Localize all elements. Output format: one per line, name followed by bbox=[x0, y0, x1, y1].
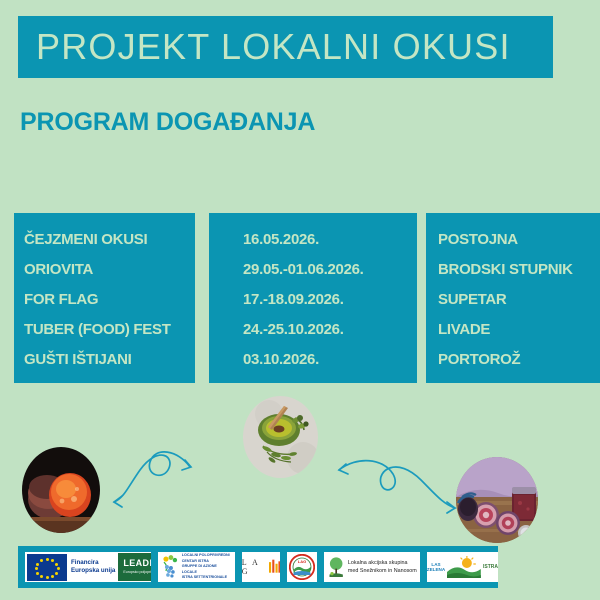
table-row: LIVADE bbox=[434, 314, 592, 344]
table-row: PORTOROŽ bbox=[434, 344, 592, 374]
lag-letters: L A G bbox=[242, 558, 266, 576]
cured-meat-photo bbox=[22, 447, 100, 533]
logo-lag: L A G bbox=[242, 552, 280, 582]
table-row: 24.-25.10.2026. bbox=[217, 314, 409, 344]
eu-funding-text: Financira Europska unija bbox=[69, 559, 115, 576]
olive-oil-photo bbox=[243, 396, 318, 478]
table-row: BRODSKI STUPNIK bbox=[434, 254, 592, 284]
table-row: POSTOJNA bbox=[434, 224, 592, 254]
page-title: PROJEKT LOKALNI OKUSI bbox=[36, 29, 511, 65]
grapevine-icon bbox=[160, 554, 180, 580]
eu-flag-icon bbox=[27, 554, 67, 581]
table-row: FOR FLAG bbox=[22, 284, 187, 314]
program-column-locations: POSTOJNA BRODSKI STUPNIK SUPETAR LIVADE … bbox=[426, 213, 600, 383]
green-hills-sun-icon bbox=[447, 556, 481, 578]
zelena-left-text: LAS ZELENA bbox=[427, 562, 445, 573]
zelena-right-text: ISTRA bbox=[483, 564, 498, 570]
fig-jam-photo bbox=[456, 457, 538, 543]
logo-las-sneznik: Lokalna akcijska skupina med Snežnikom i… bbox=[324, 552, 420, 582]
curved-arrow-left-icon bbox=[110, 440, 230, 515]
table-row: 03.10.2026. bbox=[217, 344, 409, 374]
logo-eu-leader: Financira Europska unija LEADER Europsko… bbox=[25, 552, 151, 582]
table-row: TUBER (FOOD) FEST bbox=[22, 314, 187, 344]
curved-arrow-right-icon bbox=[335, 452, 465, 524]
tree-icon bbox=[327, 554, 345, 580]
lag-bars-icon bbox=[269, 558, 280, 576]
table-row: 16.05.2026. bbox=[217, 224, 409, 254]
table-row: 29.05.-01.06.2026. bbox=[217, 254, 409, 284]
poster-canvas: PROJEKT LOKALNI OKUSI PROGRAM DOGAĐANJA … bbox=[0, 0, 600, 600]
logo-las-zelena-istra: LAS ZELENA ISTRA bbox=[427, 552, 498, 582]
logo-lag-stamp: LAG bbox=[287, 552, 317, 582]
svg-text:LAG: LAG bbox=[298, 559, 306, 564]
las-sn-text-block: Lokalna akcijska skupina med Snežnikom i… bbox=[348, 559, 417, 575]
table-row: 17.-18.09.2026. bbox=[217, 284, 409, 314]
gal-text-block: LOCALNI POLOPRIVREDNI CENTAR ISTRA GRUPP… bbox=[182, 553, 233, 581]
program-table: ČEJZMENI OKUSI ORIOVITA FOR FLAG TUBER (… bbox=[14, 213, 586, 383]
program-column-events: ČEJZMENI OKUSI ORIOVITA FOR FLAG TUBER (… bbox=[14, 213, 195, 383]
footer-logo-bar: Financira Europska unija LEADER Europsko… bbox=[18, 546, 498, 588]
table-row: ČEJZMENI OKUSI bbox=[22, 224, 187, 254]
table-row: GUŠTI IŠTIJANI bbox=[22, 344, 187, 374]
circular-stamp-icon: LAG bbox=[289, 554, 315, 580]
logo-gal-istra: LOCALNI POLOPRIVREDNI CENTAR ISTRA GRUPP… bbox=[158, 552, 235, 582]
program-column-dates: 16.05.2026. 29.05.-01.06.2026. 17.-18.09… bbox=[209, 213, 417, 383]
table-row: ORIOVITA bbox=[22, 254, 187, 284]
table-row: SUPETAR bbox=[434, 284, 592, 314]
page-subtitle: PROGRAM DOGAĐANJA bbox=[20, 108, 315, 137]
title-bar: PROJEKT LOKALNI OKUSI bbox=[18, 16, 553, 78]
leader-logo: LEADER Europsko poljoprivredno vijeće za… bbox=[118, 553, 151, 581]
